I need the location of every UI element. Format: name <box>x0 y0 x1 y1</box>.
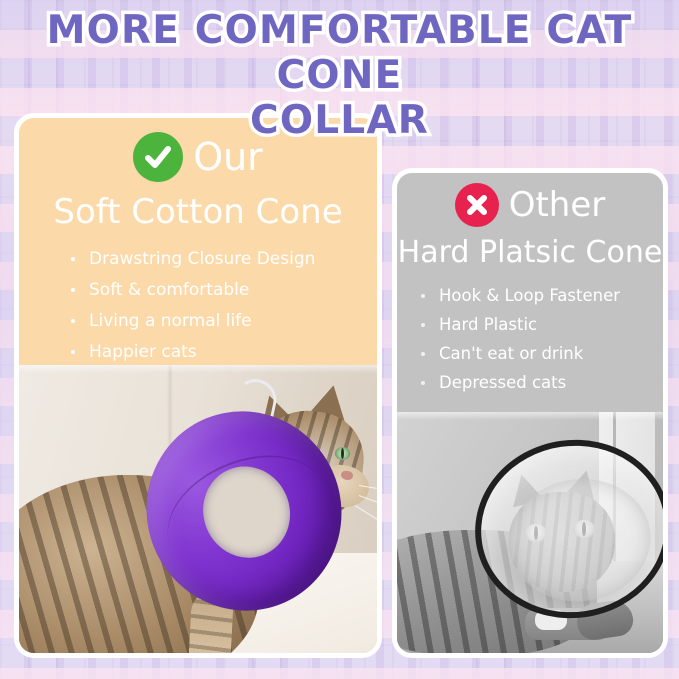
list-item: Depressed cats <box>421 368 663 397</box>
ours-product-photo <box>19 365 377 653</box>
cat-eye-right <box>335 447 350 460</box>
list-item: Drawstring Closure Design <box>71 244 377 275</box>
list-item: Soft & comfortable <box>71 275 377 306</box>
ours-feature-list: Drawstring Closure Design Soft & comfort… <box>71 244 377 368</box>
page-title-line-2: COLLAR <box>0 98 679 143</box>
list-item: Living a normal life <box>71 306 377 337</box>
list-item: Can't eat or drink <box>421 339 663 368</box>
comparison-card-ours: Our Soft Cotton Cone Drawstring Closure … <box>14 113 382 658</box>
cone-opening <box>501 470 659 611</box>
ours-subtitle: Soft Cotton Cone <box>19 192 377 232</box>
other-label: Other <box>509 186 606 224</box>
photo-top-fade <box>397 412 663 420</box>
red-x-icon <box>455 183 499 227</box>
other-subtitle: Hard Platsic Cone <box>397 235 663 271</box>
other-product-photo <box>397 412 663 653</box>
comparison-card-other: Other Hard Platsic Cone Hook & Loop Fast… <box>392 168 668 658</box>
page-title-line-1: MORE COMFORTABLE CAT CONE <box>0 8 679 98</box>
page-title: MORE COMFORTABLE CAT CONE COLLAR <box>0 8 679 143</box>
other-card-header: Other <box>397 173 663 227</box>
photo-top-fade <box>19 365 377 373</box>
other-feature-list: Hook & Loop Fastener Hard Plastic Can't … <box>421 281 663 397</box>
list-item: Happier cats <box>71 337 377 368</box>
donut-seam <box>150 434 343 596</box>
list-item: Hard Plastic <box>421 310 663 339</box>
list-item: Hook & Loop Fastener <box>421 281 663 310</box>
